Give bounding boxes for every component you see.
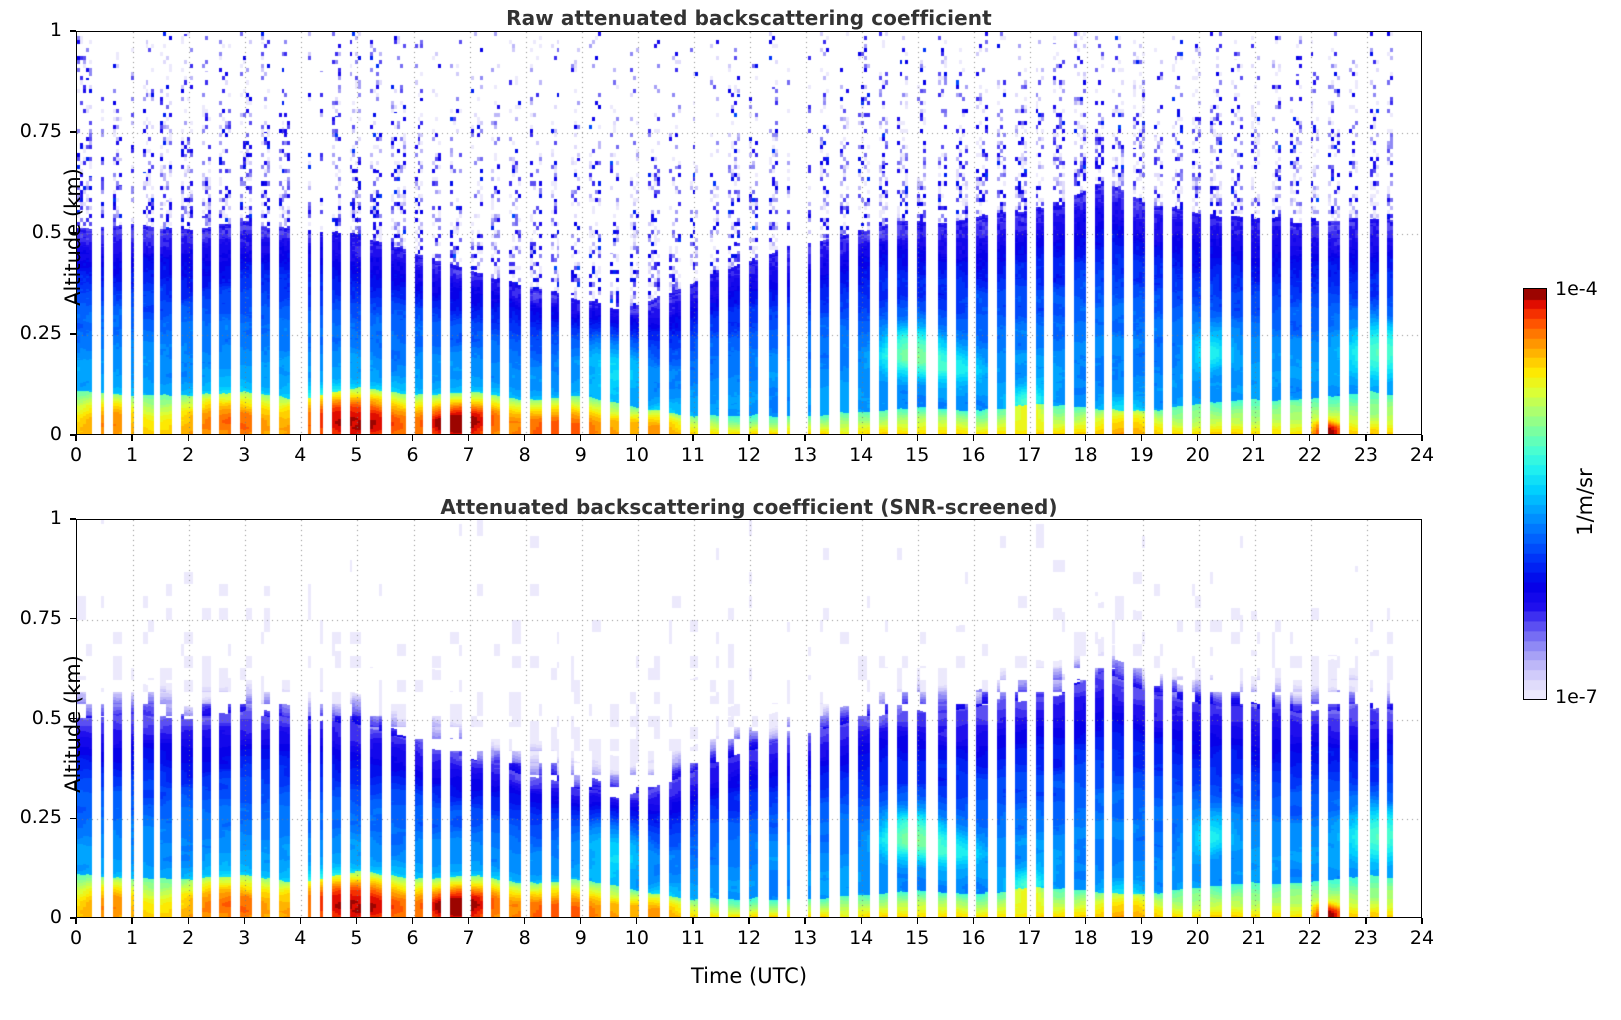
y-tick-top (70, 131, 76, 132)
x-ticklabel-bottom: 10 (607, 927, 667, 949)
x-tick-bottom (131, 918, 132, 924)
x-tick-top (1085, 435, 1086, 441)
x-tick-top (244, 435, 245, 441)
x-ticklabel-bottom: 23 (1336, 927, 1396, 949)
y-tick-bottom (70, 718, 76, 719)
y-ticklabel-bottom: 1 (0, 507, 62, 529)
x-ticklabel-top: 19 (1112, 444, 1172, 466)
x-ticklabel-top: 5 (326, 444, 386, 466)
x-tick-bottom (1085, 918, 1086, 924)
x-tick-bottom (1365, 918, 1366, 924)
x-ticklabel-top: 22 (1280, 444, 1340, 466)
x-ticklabel-top: 18 (1056, 444, 1116, 466)
x-tick-top (748, 435, 749, 441)
x-ticklabel-bottom: 1 (102, 927, 162, 949)
y-tick-top (70, 434, 76, 435)
x-ticklabel-top: 7 (439, 444, 499, 466)
heatmap-image-screened (77, 520, 1422, 918)
x-ticklabel-bottom: 3 (214, 927, 274, 949)
x-ticklabel-top: 17 (999, 444, 1059, 466)
x-ticklabel-top: 10 (607, 444, 667, 466)
x-tick-top (188, 435, 189, 441)
y-tick-top (70, 232, 76, 233)
x-ticklabel-bottom: 24 (1392, 927, 1452, 949)
x-tick-bottom (188, 918, 189, 924)
x-tick-bottom (580, 918, 581, 924)
y-ticklabel-top: 0.5 (0, 221, 62, 243)
x-tick-top (468, 435, 469, 441)
x-tick-bottom (861, 918, 862, 924)
x-tick-bottom (1029, 918, 1030, 924)
x-ticklabel-top: 21 (1224, 444, 1284, 466)
x-tick-bottom (356, 918, 357, 924)
x-tick-bottom (1141, 918, 1142, 924)
x-ticklabel-bottom: 21 (1224, 927, 1284, 949)
x-tick-top (861, 435, 862, 441)
x-ticklabel-top: 15 (887, 444, 947, 466)
x-ticklabel-top: 23 (1336, 444, 1396, 466)
y-ticklabel-top: 0.75 (0, 120, 62, 142)
y-tick-top (70, 333, 76, 334)
y-ticklabel-bottom: 0.75 (0, 607, 62, 629)
x-tick-bottom (973, 918, 974, 924)
x-tick-top (1253, 435, 1254, 441)
x-tick-top (1141, 435, 1142, 441)
y-ticklabel-top: 1 (0, 19, 62, 41)
x-tick-bottom (412, 918, 413, 924)
y-ticklabel-bottom: 0.5 (0, 707, 62, 729)
x-tick-top (1309, 435, 1310, 441)
x-ticklabel-bottom: 18 (1056, 927, 1116, 949)
x-ticklabel-bottom: 12 (719, 927, 779, 949)
x-tick-bottom (917, 918, 918, 924)
x-tick-bottom (75, 918, 76, 924)
x-ticklabel-bottom: 2 (158, 927, 218, 949)
x-ticklabel-bottom: 16 (943, 927, 1003, 949)
x-ticklabel-top: 6 (383, 444, 443, 466)
x-ticklabel-bottom: 8 (495, 927, 555, 949)
x-tick-bottom (468, 918, 469, 924)
x-ticklabel-top: 3 (214, 444, 274, 466)
y-tick-bottom (70, 917, 76, 918)
x-ticklabel-bottom: 7 (439, 927, 499, 949)
heatmap-image-raw (77, 32, 1422, 435)
x-tick-top (412, 435, 413, 441)
x-ticklabel-bottom: 14 (831, 927, 891, 949)
x-ticklabel-bottom: 0 (46, 927, 106, 949)
x-tick-bottom (300, 918, 301, 924)
x-tick-bottom (804, 918, 805, 924)
colorbar-unit-label: 1/m/sr (1573, 352, 1597, 652)
x-ticklabel-bottom: 20 (1168, 927, 1228, 949)
y-tick-bottom (70, 818, 76, 819)
x-ticklabel-top: 2 (158, 444, 218, 466)
panel-title-screened: Attenuated backscattering coefficient (S… (76, 495, 1422, 519)
x-tick-top (131, 435, 132, 441)
y-tick-bottom (70, 518, 76, 519)
heatmap-panel-screened (76, 519, 1422, 918)
x-ticklabel-top: 12 (719, 444, 779, 466)
x-ticklabel-bottom: 22 (1280, 927, 1340, 949)
x-tick-top (580, 435, 581, 441)
x-ticklabel-top: 13 (775, 444, 835, 466)
x-axis-label: Time (UTC) (76, 964, 1422, 988)
y-ticklabel-top: 0.25 (0, 322, 62, 344)
x-tick-bottom (1253, 918, 1254, 924)
colorbar-min-label: 1e-7 (1555, 686, 1598, 708)
x-ticklabel-top: 11 (663, 444, 723, 466)
x-tick-bottom (1197, 918, 1198, 924)
x-tick-bottom (748, 918, 749, 924)
x-tick-top (1365, 435, 1366, 441)
x-tick-bottom (1421, 918, 1422, 924)
x-tick-top (804, 435, 805, 441)
x-tick-top (973, 435, 974, 441)
x-ticklabel-bottom: 17 (999, 927, 1059, 949)
x-tick-bottom (1309, 918, 1310, 924)
colorbar-gradient (1524, 289, 1546, 699)
x-tick-top (75, 435, 76, 441)
x-ticklabel-bottom: 15 (887, 927, 947, 949)
x-ticklabel-top: 24 (1392, 444, 1452, 466)
x-tick-bottom (692, 918, 693, 924)
colorbar-max-label: 1e-4 (1555, 278, 1598, 300)
x-tick-top (356, 435, 357, 441)
x-ticklabel-bottom: 6 (383, 927, 443, 949)
x-tick-top (300, 435, 301, 441)
heatmap-panel-raw (76, 31, 1422, 435)
x-tick-top (1029, 435, 1030, 441)
x-ticklabel-bottom: 13 (775, 927, 835, 949)
y-ticklabel-bottom: 0.25 (0, 806, 62, 828)
x-ticklabel-top: 9 (551, 444, 611, 466)
y-tick-top (70, 30, 76, 31)
x-ticklabel-bottom: 11 (663, 927, 723, 949)
x-tick-top (1421, 435, 1422, 441)
x-ticklabel-top: 8 (495, 444, 555, 466)
x-tick-bottom (636, 918, 637, 924)
colorbar (1523, 288, 1547, 700)
x-tick-top (917, 435, 918, 441)
x-ticklabel-bottom: 5 (326, 927, 386, 949)
x-tick-bottom (244, 918, 245, 924)
x-ticklabel-bottom: 4 (270, 927, 330, 949)
x-tick-top (1197, 435, 1198, 441)
x-ticklabel-bottom: 9 (551, 927, 611, 949)
x-tick-top (692, 435, 693, 441)
x-ticklabel-top: 16 (943, 444, 1003, 466)
x-ticklabel-top: 0 (46, 444, 106, 466)
y-ticklabel-bottom: 0 (0, 906, 62, 928)
x-ticklabel-top: 1 (102, 444, 162, 466)
x-ticklabel-top: 14 (831, 444, 891, 466)
x-tick-top (524, 435, 525, 441)
figure-canvas: Raw attenuated backscattering coefficien… (0, 0, 1621, 1020)
x-tick-bottom (524, 918, 525, 924)
panel-title-raw: Raw attenuated backscattering coefficien… (76, 6, 1422, 30)
x-ticklabel-top: 20 (1168, 444, 1228, 466)
x-ticklabel-bottom: 19 (1112, 927, 1172, 949)
y-tick-bottom (70, 618, 76, 619)
y-ticklabel-top: 0 (0, 423, 62, 445)
x-ticklabel-top: 4 (270, 444, 330, 466)
x-tick-top (636, 435, 637, 441)
